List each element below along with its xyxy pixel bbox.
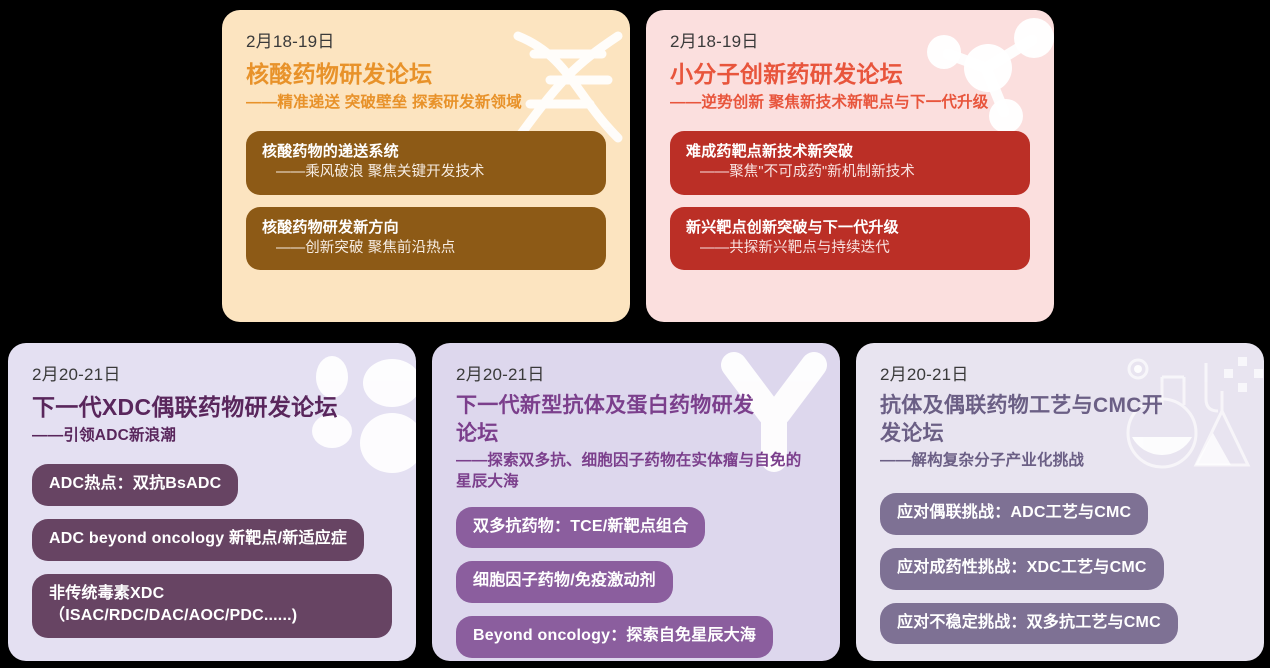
- card-subtitle: ——精准递送 突破壁垒 探索研发新领域: [246, 92, 606, 113]
- card-title: 下一代XDC偶联药物研发论坛: [32, 392, 392, 422]
- card-subtitle: ——探索双多抗、细胞因子药物在实体瘤与自免的星辰大海: [456, 450, 816, 493]
- card-xdc[interactable]: 2月20-21日 下一代XDC偶联药物研发论坛 ——引领ADC新浪潮 ADC热点…: [8, 343, 416, 661]
- topic-pill[interactable]: ADC beyond oncology 新靶点/新适应症: [32, 519, 364, 561]
- session-title: 核酸药物研发新方向: [262, 218, 590, 238]
- session-pill[interactable]: 核酸药物的递送系统 ——乘风破浪 聚焦关键开发技术: [246, 131, 606, 195]
- card-title: 小分子创新药研发论坛: [670, 59, 1030, 89]
- session-pill[interactable]: 难成药靶点新技术新突破 ——聚焦"不可成药"新机制新技术: [670, 131, 1030, 195]
- topic-list: 应对偶联挑战：ADC工艺与CMC 应对成药性挑战：XDC工艺与CMC 应对不稳定…: [880, 493, 1240, 657]
- card-small-molecule[interactable]: 2月18-19日 小分子创新药研发论坛 ——逆势创新 聚焦新技术新靶点与下一代升…: [646, 10, 1054, 322]
- topic-pill[interactable]: ADC热点：双抗BsADC: [32, 464, 238, 506]
- card-title: 抗体及偶联药物工艺与CMC开发论坛: [880, 392, 1180, 447]
- card-title: 下一代新型抗体及蛋白药物研发论坛: [456, 392, 756, 447]
- session-pill[interactable]: 核酸药物研发新方向 ——创新突破 聚焦前沿热点: [246, 207, 606, 271]
- session-title: 核酸药物的递送系统: [262, 142, 590, 162]
- session-title: 难成药靶点新技术新突破: [686, 142, 1014, 162]
- card-antibody[interactable]: 2月20-21日 下一代新型抗体及蛋白药物研发论坛 ——探索双多抗、细胞因子药物…: [432, 343, 840, 661]
- card-subtitle: ——逆势创新 聚焦新技术新靶点与下一代升级: [670, 92, 1030, 113]
- session-subtitle: ——聚焦"不可成药"新机制新技术: [686, 162, 1014, 182]
- card-date: 2月18-19日: [246, 32, 606, 52]
- topic-list: 双多抗药物：TCE/新靶点组合 细胞因子药物/免疫激动剂 Beyond onco…: [456, 507, 816, 661]
- session-list: 难成药靶点新技术新突破 ——聚焦"不可成药"新机制新技术 新兴靶点创新突破与下一…: [670, 131, 1030, 282]
- card-date: 2月20-21日: [32, 365, 392, 385]
- card-subtitle: ——解构复杂分子产业化挑战: [880, 450, 1240, 471]
- session-subtitle: ——乘风破浪 聚焦关键开发技术: [262, 162, 590, 182]
- topic-pill[interactable]: 应对偶联挑战：ADC工艺与CMC: [880, 493, 1148, 535]
- forum-cards-board: 2月18-19日 核酸药物研发论坛 ——精准递送 突破壁垒 探索研发新领域 核酸…: [0, 0, 1270, 668]
- topic-pill[interactable]: 细胞因子药物/免疫激动剂: [456, 561, 673, 603]
- card-date: 2月20-21日: [880, 365, 1240, 385]
- topic-pill[interactable]: 应对不稳定挑战：双多抗工艺与CMC: [880, 603, 1178, 645]
- session-list: 核酸药物的递送系统 ——乘风破浪 聚焦关键开发技术 核酸药物研发新方向 ——创新…: [246, 131, 606, 282]
- session-pill[interactable]: 新兴靶点创新突破与下一代升级 ——共探新兴靶点与持续迭代: [670, 207, 1030, 271]
- card-cmc[interactable]: 2月20-21日 抗体及偶联药物工艺与CMC开发论坛 ——解构复杂分子产业化挑战…: [856, 343, 1264, 661]
- topic-pill[interactable]: Beyond oncology：探索自免星辰大海: [456, 616, 773, 658]
- topic-pill[interactable]: 双多抗药物：TCE/新靶点组合: [456, 507, 705, 549]
- card-date: 2月20-21日: [456, 365, 816, 385]
- topic-pill[interactable]: 非传统毒素XDC（ISAC/RDC/DAC/AOC/PDC......): [32, 574, 392, 638]
- session-subtitle: ——创新突破 聚焦前沿热点: [262, 238, 590, 258]
- topic-list: ADC热点：双抗BsADC ADC beyond oncology 新靶点/新适…: [32, 464, 392, 651]
- card-subtitle: ——引领ADC新浪潮: [32, 425, 392, 446]
- card-title: 核酸药物研发论坛: [246, 59, 606, 89]
- session-title: 新兴靶点创新突破与下一代升级: [686, 218, 1014, 238]
- card-date: 2月18-19日: [670, 32, 1030, 52]
- card-nucleic-acid[interactable]: 2月18-19日 核酸药物研发论坛 ——精准递送 突破壁垒 探索研发新领域 核酸…: [222, 10, 630, 322]
- topic-pill[interactable]: 应对成药性挑战：XDC工艺与CMC: [880, 548, 1164, 590]
- session-subtitle: ——共探新兴靶点与持续迭代: [686, 238, 1014, 258]
